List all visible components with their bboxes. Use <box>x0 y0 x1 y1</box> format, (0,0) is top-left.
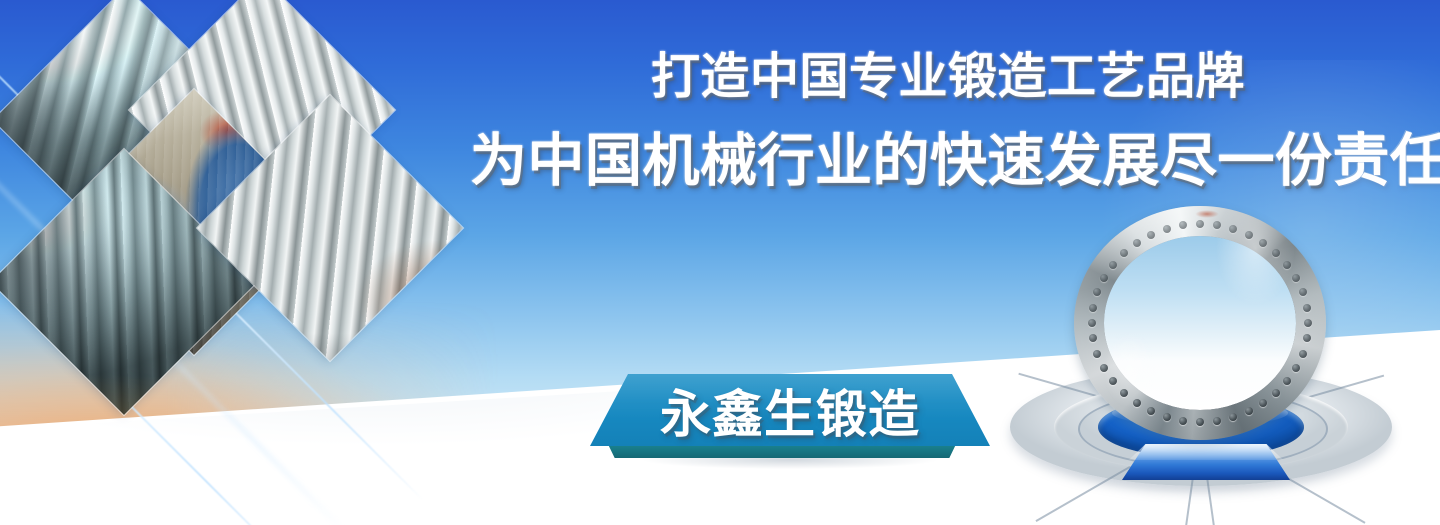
flange-bolt-hole <box>1109 377 1117 385</box>
flange-bolt-hole <box>1196 418 1204 426</box>
flange-bolt-hole <box>1120 389 1128 397</box>
flange-bolt-hole <box>1196 220 1204 228</box>
flange-bolt-hole <box>1163 413 1171 421</box>
flange-bolt-hole <box>1163 225 1171 233</box>
headline-line-2: 为中国机械行业的快速发展尽一份责任 <box>470 124 1420 198</box>
flange-bolt-hole <box>1093 350 1101 358</box>
headline-line-2-accent: 责任 <box>1333 129 1440 193</box>
flange-bolt-hole <box>1303 304 1311 312</box>
flange-bolt-hole <box>1133 239 1141 247</box>
flange-bolt-hole <box>1100 274 1108 282</box>
headline-block: 打造中国专业锻造工艺品牌 为中国机械行业的快速发展尽一份责任 <box>470 46 1420 198</box>
flange-bolt-hole <box>1213 417 1221 425</box>
flange-bolt-hole <box>1109 261 1117 269</box>
flange-bolt-hole <box>1088 319 1096 327</box>
brand-platform: 永鑫生锻造 <box>590 374 990 484</box>
flange-bolt-hole <box>1133 399 1141 407</box>
flange-bolt-hole <box>1245 231 1253 239</box>
product-showcase <box>980 200 1420 520</box>
forged-flange-ring <box>1074 206 1326 440</box>
flange-bolt-hole <box>1179 417 1187 425</box>
flange-bolt-hole <box>1089 304 1097 312</box>
headline-line-2-main: 为中国机械行业的快速发展尽一份 <box>470 129 1333 193</box>
promo-banner: 打造中国专业锻造工艺品牌 为中国机械行业的快速发展尽一份责任 永鑫生锻造 <box>0 0 1440 525</box>
flange-highlight <box>1074 206 1326 440</box>
diamond-photo-collage <box>0 0 470 402</box>
flange-bolt-hole <box>1299 350 1307 358</box>
headline-line-1: 打造中国专业锻造工艺品牌 <box>470 46 1420 108</box>
flange-bolt-hole <box>1120 249 1128 257</box>
flange-bolt-hole <box>1147 231 1155 239</box>
brand-name-label: 永鑫生锻造 <box>590 374 990 446</box>
pedestal-front-glass-gloss <box>1122 444 1290 460</box>
flange-bolt-hole <box>1100 364 1108 372</box>
flange-bolt-hole <box>1304 319 1312 327</box>
